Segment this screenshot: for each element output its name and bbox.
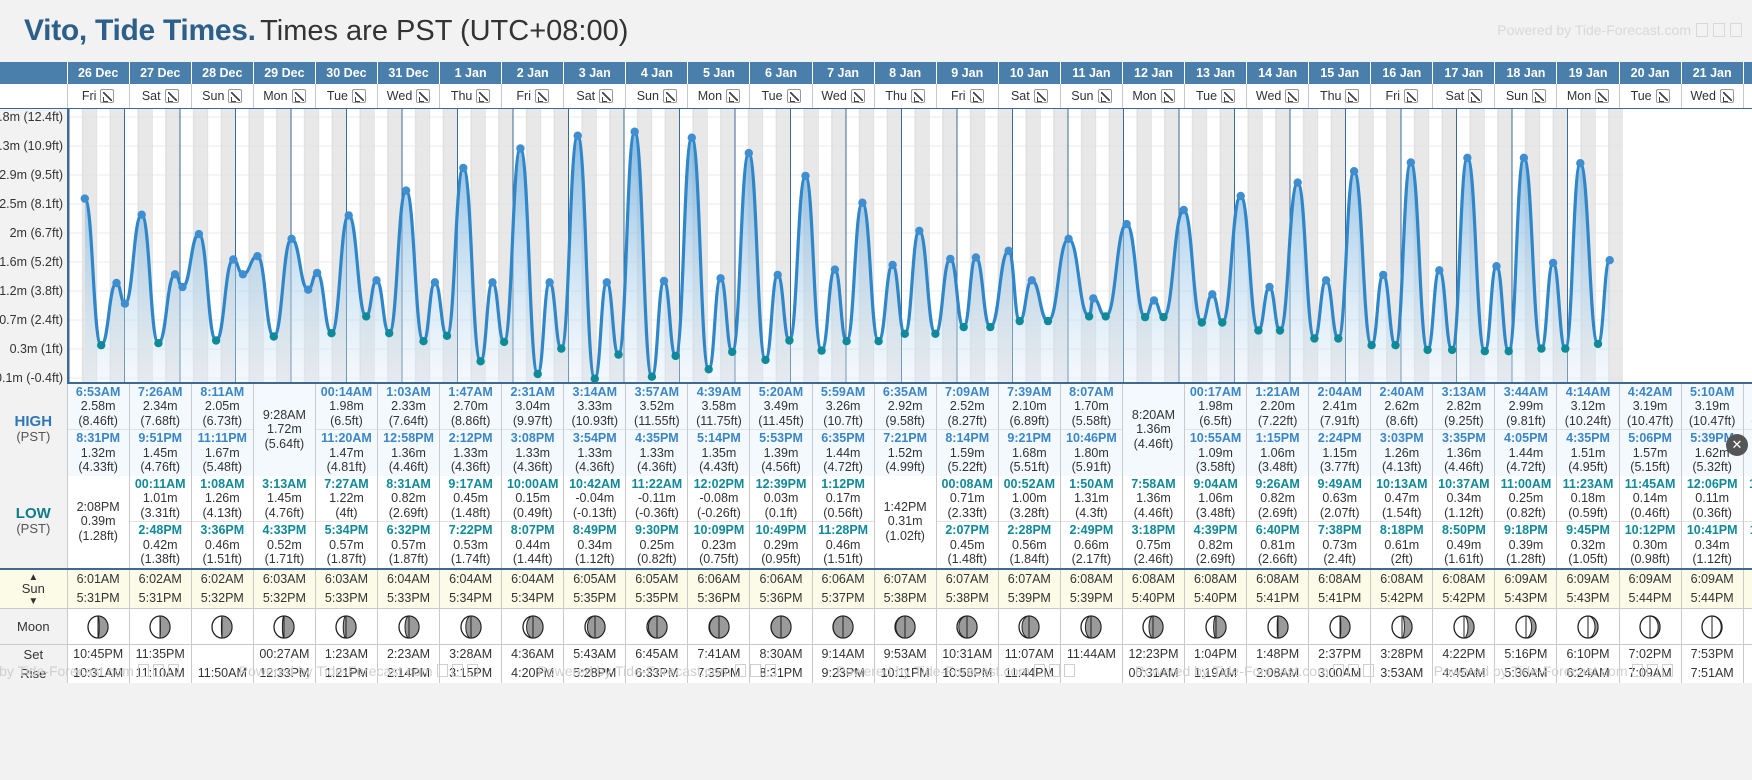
tide-event: 7:58AM1.36m(4.46ft) [1123, 476, 1184, 522]
moon-phase-icon [149, 615, 171, 639]
weekday-label: Thu [451, 89, 473, 103]
expand-icon[interactable] [787, 89, 801, 103]
y-axis-labels: 3.8m (12.4ft)3.3m (10.9ft)2.9m (9.5ft)2.… [0, 108, 67, 384]
moonrise-cell-8: 5:28PM [564, 664, 626, 683]
sun-cell-3: 6:03AM5:32PM [253, 569, 315, 609]
date-header-17[interactable]: 12 Jan [1122, 62, 1184, 84]
sun-cell-18: 6:08AM5:40PM [1185, 569, 1247, 609]
moon-cell-4 [315, 609, 377, 645]
moonrise-row: Rise10:31AM11:10AM11:50AM12:33PM1:21PM2:… [0, 664, 1752, 683]
moon-phase-icon [335, 615, 357, 639]
date-header-0[interactable]: 26 Dec [67, 62, 129, 84]
high-tide-label: HIGH(PST) [0, 384, 67, 476]
tide-event: 2:49PM0.66m(2.17ft) [1061, 521, 1122, 568]
sun-cell-23: 6:09AM5:43PM [1495, 569, 1557, 609]
weekday-label: Wed [1256, 89, 1281, 103]
tide-table: 26 Dec27 Dec28 Dec29 Dec30 Dec31 Dec1 Ja… [0, 62, 1752, 683]
low-tide-cell-19: 9:26AM0.82m(2.69ft)6:40PM0.81m(2.66ft) [1247, 476, 1309, 569]
sun-cell-0: 6:01AM5:31PM [67, 569, 129, 609]
date-header-13[interactable]: 8 Jan [874, 62, 936, 84]
moon-cell-14 [936, 609, 998, 645]
date-header-4[interactable]: 30 Dec [315, 62, 377, 84]
low-tide-cell-8: 10:42AM-0.04m(-0.13ft)8:49PM0.34m(1.12ft… [564, 476, 626, 569]
expand-icon[interactable] [416, 89, 430, 103]
weekday-cell-27[interactable]: Thu [1743, 84, 1752, 108]
y-tick-label: 2.5m (8.1ft) [0, 197, 63, 211]
low-tide-cell-9: 11:22AM-0.11m(-0.36ft)9:30PM0.25m(0.82ft… [626, 476, 688, 569]
moonrise-cell-23: 5:36AM [1495, 664, 1557, 683]
weekday-label: Tue [1631, 89, 1652, 103]
moon-cell-11 [750, 609, 812, 645]
weekday-label: Fri [1386, 89, 1401, 103]
moon-cell-2 [191, 609, 253, 645]
low-tide-cell-24: 11:23AM0.18m(0.59ft)9:45PM0.32m(1.05ft) [1557, 476, 1619, 569]
tide-event: 10:12PM0.30m(0.98ft) [1620, 521, 1681, 568]
moonrise-cell-2: 11:50AM [191, 664, 253, 683]
tide-event: 3:36PM0.46m(1.51ft) [192, 521, 253, 568]
expand-icon[interactable] [1595, 89, 1609, 103]
weekday-label: Wed [1690, 89, 1715, 103]
moon-phase-icon [1639, 615, 1661, 639]
low-tide-cell-6: 9:17AM0.45m(1.48ft)7:22PM0.53m(1.74ft) [440, 476, 502, 569]
tide-event: 00:08AM0.71m(2.33ft) [937, 476, 998, 522]
moonrise-cell-17: 00:31AM [1122, 664, 1184, 683]
y-tick-label: 1.6m (5.2ft) [0, 255, 63, 269]
date-header-18[interactable]: 13 Jan [1185, 62, 1247, 84]
moon-cell-10 [688, 609, 750, 645]
expand-icon[interactable] [1221, 89, 1235, 103]
weekday-label: Sun [202, 89, 224, 103]
sun-cell-27: 6:09AM5:45PM [1743, 569, 1752, 609]
tide-event: 9:49AM0.63m(2.07ft) [1309, 476, 1370, 522]
expand-icon[interactable] [352, 89, 366, 103]
moon-phase-icon [1391, 615, 1413, 639]
moon-phase-icon [1577, 615, 1599, 639]
date-header-27[interactable]: 22 Jan [1743, 62, 1752, 84]
date-header-3[interactable]: 29 Dec [253, 62, 315, 84]
moonrise-cell-4: 1:21PM [315, 664, 377, 683]
moonset-cell-13: 9:53AM [874, 645, 936, 664]
tide-event: 2:48PM0.42m(1.38ft) [130, 521, 191, 568]
weekday-cell-16[interactable]: Sun [1060, 84, 1122, 108]
high-tide-cell-6: 1:47AM2.70m(8.86ft)2:12PM1.33m(4.36ft) [440, 384, 502, 476]
y-tick-label: 1.2m (3.8ft) [0, 284, 63, 298]
high-tide-cell-25: 4:42AM3.19m(10.47ft)5:06PM1.57m(5.15ft) [1619, 384, 1681, 476]
tide-event: 8:07PM0.44m(1.44ft) [502, 521, 563, 568]
weekday-cell-22[interactable]: Sat [1433, 84, 1495, 108]
tide-event: 10:55AM1.09m(3.58ft) [1185, 429, 1246, 476]
weekday-cell-11[interactable]: Tue [750, 84, 812, 108]
low-tide-cell-7: 10:00AM0.15m(0.49ft)8:07PM0.44m(1.44ft) [502, 476, 564, 569]
high-tide-cell-1: 7:26AM2.34m(7.68ft)9:51PM1.45m(4.76ft) [129, 384, 191, 476]
moonrise-cell-5: 2:14PM [378, 664, 440, 683]
tide-event: 11:23AM0.18m(0.59ft) [1557, 476, 1618, 522]
moonset-cell-7: 4:36AM [502, 645, 564, 664]
weekday-cell-0[interactable]: Fri [67, 84, 129, 108]
weekday-label: Tue [1196, 89, 1217, 103]
tide-event: 2:40AM2.62m(8.6ft) [1371, 384, 1432, 430]
moon-phase-icon [273, 615, 295, 639]
expand-icon[interactable] [1285, 89, 1299, 103]
expand-icon[interactable] [970, 89, 984, 103]
moonset-cell-16: 11:44AM [1060, 645, 1122, 664]
weekday-cell-9[interactable]: Sun [626, 84, 688, 108]
tide-event: 8:31AM0.82m(2.69ft) [378, 476, 439, 522]
moon-phase-icon [894, 615, 916, 639]
tide-event: 11:45AM0.14m(0.46ft) [1620, 476, 1681, 522]
tide-event: 5:37AM3.10m(10.17ft) [1744, 384, 1752, 430]
moon-phase-icon [832, 615, 854, 639]
low-tide-cell-2: 1:08AM1.26m(4.13ft)3:36PM0.46m(1.51ft) [191, 476, 253, 569]
moon-phase-icon [1205, 615, 1227, 639]
moon-cell-6 [440, 609, 502, 645]
high-tide-cell-26: 5:10AM3.19m(10.47ft)5:39PM1.62m(5.32ft) [1681, 384, 1743, 476]
date-header-24[interactable]: 19 Jan [1557, 62, 1619, 84]
sun-cell-21: 6:08AM5:42PM [1371, 569, 1433, 609]
moonrise-cell-9: 6:33PM [626, 664, 688, 683]
expand-icon[interactable] [726, 89, 740, 103]
moon-cell-21 [1371, 609, 1433, 645]
date-header-23[interactable]: 18 Jan [1495, 62, 1557, 84]
moonrise-cell-20: 3:00AM [1309, 664, 1371, 683]
moon-cell-13 [874, 609, 936, 645]
weekday-cell-12[interactable]: Wed [812, 84, 874, 108]
tide-event: 8:07AM1.70m(5.58ft) [1061, 384, 1122, 430]
moon-phase-icon [646, 615, 668, 639]
weekday-cell-6[interactable]: Thu [440, 84, 502, 108]
date-header-5[interactable]: 31 Dec [378, 62, 440, 84]
moon-cell-23 [1495, 609, 1557, 645]
tide-event: 5:20AM3.49m(11.45ft) [750, 384, 811, 430]
weekday-cell-8[interactable]: Sat [564, 84, 626, 108]
weekday-label: Mon [698, 89, 722, 103]
date-header-10[interactable]: 5 Jan [688, 62, 750, 84]
weekday-cell-25[interactable]: Tue [1619, 84, 1681, 108]
expand-icon[interactable] [599, 89, 613, 103]
moonset-cell-14: 10:31AM [936, 645, 998, 664]
tide-event: 11:11PM1.67m(5.48ft) [192, 429, 253, 476]
weekday-cell-4[interactable]: Tue [315, 84, 377, 108]
moon-phase-icon [708, 615, 730, 639]
moon-cell-1 [129, 609, 191, 645]
low-tide-cell-27: 12:26PM0.11m(0.36ft)11:11PM0.44m(1.44ft) [1743, 476, 1752, 569]
tide-event: 3:14AM3.33m(10.93ft) [564, 384, 625, 430]
y-tick-label: 3.8m (12.4ft) [0, 110, 63, 124]
moon-cell-8 [564, 609, 626, 645]
moonrise-cell-12: 9:23PM [812, 664, 874, 683]
weekday-label: Sat [142, 89, 161, 103]
date-header-26[interactable]: 21 Jan [1681, 62, 1743, 84]
weekday-label: Sun [1506, 89, 1528, 103]
moon-row: Moon [0, 609, 1752, 645]
tide-event: 2:24PM1.15m(3.77ft) [1309, 429, 1370, 476]
weekday-cell-2[interactable]: Sun [191, 84, 253, 108]
expand-icon[interactable] [1720, 89, 1734, 103]
sun-cell-24: 6:09AM5:43PM [1557, 569, 1619, 609]
tide-event: 10:42AM-0.04m(-0.13ft) [564, 476, 625, 522]
tide-event: 7:38PM0.73m(2.4ft) [1309, 521, 1370, 568]
moon-phase-icon [522, 615, 544, 639]
date-header-9[interactable]: 4 Jan [626, 62, 688, 84]
weekday-label: Fri [516, 89, 531, 103]
expand-icon[interactable] [1345, 89, 1359, 103]
tide-event: 8:20AM1.36m(4.46ft) [1123, 384, 1184, 476]
date-header-7[interactable]: 2 Jan [502, 62, 564, 84]
high-tide-cell-21: 2:40AM2.62m(8.6ft)3:03PM1.26m(4.13ft) [1371, 384, 1433, 476]
weekday-cell-5[interactable]: Wed [378, 84, 440, 108]
weekday-cell-24[interactable]: Mon [1557, 84, 1619, 108]
high-tide-cell-7: 2:31AM3.04m(9.97ft)3:08PM1.33m(4.36ft) [502, 384, 564, 476]
moonrise-cell-11: 8:31PM [750, 664, 812, 683]
moonrise-cell-16 [1060, 664, 1122, 683]
weekday-cell-1[interactable]: Sat [129, 84, 191, 108]
high-tide-cell-22: 3:13AM2.82m(9.25ft)3:35PM1.36m(4.46ft) [1433, 384, 1495, 476]
high-tide-cell-17: 8:20AM1.36m(4.46ft) [1122, 384, 1184, 476]
tide-event: 6:35AM2.92m(9.58ft) [875, 384, 936, 430]
moonset-cell-23: 5:16PM [1495, 645, 1557, 664]
tide-event: 6:53AM2.58m(8.46ft) [68, 384, 129, 430]
tide-event: 4:05PM1.44m(4.72ft) [1495, 429, 1556, 476]
weekday-cell-7[interactable]: Fri [502, 84, 564, 108]
y-tick-label: -0.1m (-0.4ft) [0, 371, 63, 385]
tide-event: 3:57AM3.52m(11.55ft) [626, 384, 687, 430]
low-tide-cell-3: 3:13AM1.45m(4.76ft)4:33PM0.52m(1.71ft) [253, 476, 315, 569]
expand-icon[interactable] [663, 89, 677, 103]
tide-event: 10:09PM0.23m(0.75ft) [688, 521, 749, 568]
date-header-11[interactable]: 6 Jan [750, 62, 812, 84]
high-tide-cell-24: 4:14AM3.12m(10.24ft)4:35PM1.51m(4.95ft) [1557, 384, 1619, 476]
flag-icon [1730, 23, 1742, 37]
expand-icon[interactable] [1161, 89, 1175, 103]
sun-cell-4: 6:03AM5:33PM [315, 569, 377, 609]
moonset-cell-22: 4:22PM [1433, 645, 1495, 664]
moonset-cell-20: 2:37PM [1309, 645, 1371, 664]
tide-event: 4:14AM3.12m(10.24ft) [1557, 384, 1618, 430]
low-tide-cell-26: 12:06PM0.11m(0.36ft)10:41PM0.34m(1.12ft) [1681, 476, 1743, 569]
moonset-cell-4: 1:23AM [315, 645, 377, 664]
low-tide-cell-17: 7:58AM1.36m(4.46ft)3:18PM0.75m(2.46ft) [1122, 476, 1184, 569]
weekday-cell-14[interactable]: Fri [936, 84, 998, 108]
expand-icon[interactable] [911, 89, 925, 103]
moon-cell-18 [1185, 609, 1247, 645]
high-tide-cell-5: 1:03AM2.33m(7.64ft)12:58PM1.36m(4.46ft) [378, 384, 440, 476]
tide-event: 7:21PM1.52m(4.99ft) [875, 429, 936, 476]
expand-icon[interactable] [1034, 89, 1048, 103]
moon-phase-icon [1080, 615, 1102, 639]
date-header-1[interactable]: 27 Dec [129, 62, 191, 84]
moon-phase-icon [1515, 615, 1537, 639]
weekday-label: Thu [1320, 89, 1342, 103]
weekday-label: Mon [1132, 89, 1156, 103]
tide-event: 6:35PM1.44m(4.72ft) [813, 429, 874, 476]
high-tide-cell-23: 3:44AM2.99m(9.81ft)4:05PM1.44m(4.72ft) [1495, 384, 1557, 476]
moonrise-cell-26: 7:51AM [1681, 664, 1743, 683]
tide-event: 12:06PM0.11m(0.36ft) [1682, 476, 1743, 522]
high-tide-cell-27: 5:37AM3.10m(10.17ft)6:13PM1.66m(5.45ft) [1743, 384, 1752, 476]
moonrise-cell-13: 10:11PM [874, 664, 936, 683]
date-header-14[interactable]: 9 Jan [936, 62, 998, 84]
weekday-cell-3[interactable]: Mon [253, 84, 315, 108]
high-tide-cell-19: 1:21AM2.20m(7.22ft)1:15PM1.06m(3.48ft) [1247, 384, 1309, 476]
tide-event: 7:27AM1.22m(4ft) [316, 476, 377, 522]
moon-phase-icon [1142, 615, 1164, 639]
tide-event: 12:26PM0.11m(0.36ft) [1744, 476, 1752, 522]
sun-cell-15: 6:07AM5:39PM [998, 569, 1060, 609]
expand-icon[interactable] [1532, 89, 1546, 103]
moon-cell-20 [1309, 609, 1371, 645]
tide-chart [67, 108, 1752, 384]
tide-event: 2:12PM1.33m(4.36ft) [440, 429, 501, 476]
moonset-cell-12: 9:14AM [812, 645, 874, 664]
date-header-25[interactable]: 20 Jan [1619, 62, 1681, 84]
weekday-label: Sun [1071, 89, 1093, 103]
tide-event: 00:52AM1.00m(3.28ft) [999, 476, 1060, 522]
tide-event: 9:18PM0.39m(1.28ft) [1495, 521, 1556, 568]
expand-icon[interactable] [1098, 89, 1112, 103]
weekday-cell-19[interactable]: Wed [1247, 84, 1309, 108]
high-tide-cell-16: 8:07AM1.70m(5.58ft)10:46PM1.80m(5.91ft) [1060, 384, 1122, 476]
moonset-cell-9: 6:45AM [626, 645, 688, 664]
tide-event: 11:11PM0.44m(1.44ft) [1744, 521, 1752, 568]
moonset-cell-1: 11:35PM [129, 645, 191, 664]
moon-cell-15 [998, 609, 1060, 645]
weekday-cell-21[interactable]: Fri [1371, 84, 1433, 108]
tide-event: 4:39AM3.58m(11.75ft) [688, 384, 749, 430]
expand-icon[interactable] [1404, 89, 1418, 103]
tide-event: 3:35PM1.36m(4.46ft) [1433, 429, 1494, 476]
date-header-8[interactable]: 3 Jan [564, 62, 626, 84]
low-tide-cell-0: 2:08PM0.39m(1.28ft) [67, 476, 129, 569]
tide-event: 10:46PM1.80m(5.91ft) [1061, 429, 1122, 476]
tide-event: 3:18PM0.75m(2.46ft) [1123, 521, 1184, 568]
moonset-cell-5: 2:23AM [378, 645, 440, 664]
sun-cell-12: 6:06AM5:37PM [812, 569, 874, 609]
moon-cell-26 [1681, 609, 1743, 645]
sun-cell-7: 6:04AM5:34PM [502, 569, 564, 609]
tide-event: 3:13AM1.45m(4.76ft) [254, 476, 315, 522]
expand-icon[interactable] [1468, 89, 1482, 103]
low-tide-cell-13: 1:42PM0.31m(1.02ft) [874, 476, 936, 569]
moonrise-cell-14: 10:58PM [936, 664, 998, 683]
y-tick-label: 0.7m (2.4ft) [0, 313, 63, 327]
moon-cell-25 [1619, 609, 1681, 645]
expand-icon[interactable] [100, 89, 114, 103]
tide-event: 5:59AM3.26m(10.7ft) [813, 384, 874, 430]
moonrise-cell-27: 8:31AM [1743, 664, 1752, 683]
sun-cell-25: 6:09AM5:44PM [1619, 569, 1681, 609]
weekday-cell-18[interactable]: Tue [1185, 84, 1247, 108]
tide-event: 2:08PM0.39m(1.28ft) [68, 476, 129, 568]
weekday-cell-10[interactable]: Mon [688, 84, 750, 108]
weekday-label: Tue [761, 89, 782, 103]
close-icon[interactable]: ✕ [1726, 434, 1748, 456]
date-header-19[interactable]: 14 Jan [1247, 62, 1309, 84]
high-tide-cell-12: 5:59AM3.26m(10.7ft)6:35PM1.44m(4.72ft) [812, 384, 874, 476]
weekday-cell-15[interactable]: Sat [998, 84, 1060, 108]
moon-phase-icon [87, 615, 109, 639]
moonset-cell-10: 7:41AM [688, 645, 750, 664]
weekday-label: Fri [82, 89, 97, 103]
moonrise-label: Rise [0, 664, 67, 683]
moon-cell-12 [812, 609, 874, 645]
weekday-cell-20[interactable]: Thu [1309, 84, 1371, 108]
weekday-label: Wed [387, 89, 412, 103]
moon-phase-icon [1329, 615, 1351, 639]
low-tide-cell-1: 00:11AM1.01m(3.31ft)2:48PM0.42m(1.38ft) [129, 476, 191, 569]
date-header-2[interactable]: 28 Dec [191, 62, 253, 84]
expand-icon[interactable] [292, 89, 306, 103]
date-header-22[interactable]: 17 Jan [1433, 62, 1495, 84]
moonrise-cell-1: 11:10AM [129, 664, 191, 683]
moon-label: Moon [0, 609, 67, 645]
weekday-cell-23[interactable]: Sun [1495, 84, 1557, 108]
moon-cell-0 [67, 609, 129, 645]
tide-event: 8:11AM2.05m(6.73ft) [192, 384, 253, 430]
low-tide-cell-12: 1:12PM0.17m(0.56ft)11:28PM0.46m(1.51ft) [812, 476, 874, 569]
low-tide-cell-20: 9:49AM0.63m(2.07ft)7:38PM0.73m(2.4ft) [1309, 476, 1371, 569]
tide-event: 3:03PM1.26m(4.13ft) [1371, 429, 1432, 476]
page-subtitle: Times are PST (UTC+08:00) [260, 15, 628, 47]
tide-event: 4:35PM1.33m(4.36ft) [626, 429, 687, 476]
date-header-16[interactable]: 11 Jan [1060, 62, 1122, 84]
expand-icon[interactable] [1656, 89, 1670, 103]
date-header-12[interactable]: 7 Jan [812, 62, 874, 84]
low-tide-cell-5: 8:31AM0.82m(2.69ft)6:32PM0.57m(1.87ft) [378, 476, 440, 569]
high-tide-cell-13: 6:35AM2.92m(9.58ft)7:21PM1.52m(4.99ft) [874, 384, 936, 476]
tide-event: 9:26AM0.82m(2.69ft) [1247, 476, 1308, 522]
sun-cell-1: 6:02AM5:31PM [129, 569, 191, 609]
moon-phase-icon [1701, 615, 1723, 639]
expand-icon[interactable] [535, 89, 549, 103]
date-header-6[interactable]: 1 Jan [440, 62, 502, 84]
expand-icon[interactable] [165, 89, 179, 103]
tide-event: 3:54PM1.33m(4.36ft) [564, 429, 625, 476]
tide-event: 1:12PM0.17m(0.56ft) [813, 476, 874, 522]
tide-event: 5:34PM0.57m(1.87ft) [316, 521, 377, 568]
high-tide-cell-14: 7:09AM2.52m(8.27ft)8:14PM1.59m(5.22ft) [936, 384, 998, 476]
date-header-20[interactable]: 15 Jan [1309, 62, 1371, 84]
date-header-21[interactable]: 16 Jan [1371, 62, 1433, 84]
low-tide-cell-18: 9:04AM1.06m(3.48ft)4:39PM0.82m(2.69ft) [1185, 476, 1247, 569]
moonset-cell-6: 3:28AM [440, 645, 502, 664]
low-tide-cell-10: 12:02PM-0.08m(-0.26ft)10:09PM0.23m(0.75f… [688, 476, 750, 569]
moonrise-cell-25: 7:09AM [1619, 664, 1681, 683]
moon-phase-icon [1453, 615, 1475, 639]
expand-icon[interactable] [228, 89, 242, 103]
weekday-cell-26[interactable]: Wed [1681, 84, 1743, 108]
sun-cell-20: 6:08AM5:41PM [1309, 569, 1371, 609]
corner-cell [0, 62, 67, 84]
moonrise-cell-3: 12:33PM [253, 664, 315, 683]
expand-icon[interactable] [476, 89, 490, 103]
weekday-label: Fri [951, 89, 966, 103]
sun-cell-5: 6:04AM5:33PM [378, 569, 440, 609]
sun-cell-19: 6:08AM5:41PM [1247, 569, 1309, 609]
tide-event: 4:35PM1.51m(4.95ft) [1557, 429, 1618, 476]
weekday-label: Thu [885, 89, 907, 103]
weekday-cell-13[interactable]: Thu [874, 84, 936, 108]
tide-event: 1:15PM1.06m(3.48ft) [1247, 429, 1308, 476]
date-header-15[interactable]: 10 Jan [998, 62, 1060, 84]
weekday-cell-17[interactable]: Mon [1122, 84, 1184, 108]
weekday-label: Sat [1445, 89, 1464, 103]
moon-cell-19 [1247, 609, 1309, 645]
expand-icon[interactable] [851, 89, 865, 103]
moonrise-cell-24: 6:24AM [1557, 664, 1619, 683]
tide-event: 1:50AM1.31m(4.3ft) [1061, 476, 1122, 522]
tide-event: 9:45PM0.32m(1.05ft) [1557, 521, 1618, 568]
tide-event: 3:44AM2.99m(9.81ft) [1495, 384, 1556, 430]
